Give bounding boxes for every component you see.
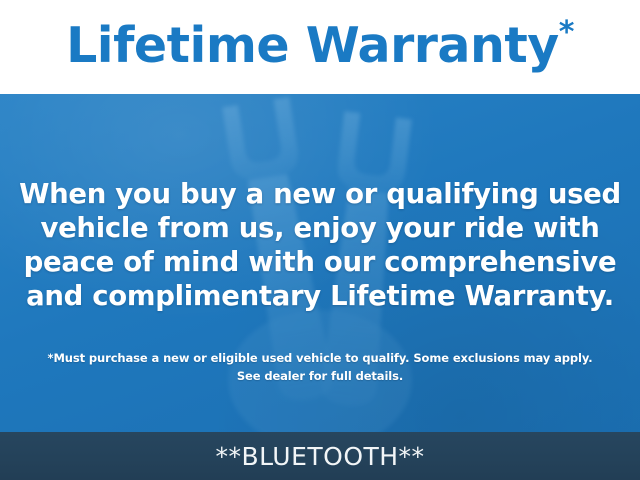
fine-print-line: *Must purchase a new or eligible used ve… xyxy=(0,349,640,367)
page-title-text: Lifetime Warranty xyxy=(66,17,559,74)
fine-print-disclaimer: *Must purchase a new or eligible used ve… xyxy=(0,349,640,385)
body-line: and complimentary Lifetime Warranty. xyxy=(0,279,640,313)
banner-header: Lifetime Warranty* xyxy=(0,0,640,94)
caption-bar: **BLUETOOTH** xyxy=(0,432,640,480)
footnote-asterisk: * xyxy=(559,15,574,50)
caption-text: **BLUETOOTH** xyxy=(215,442,424,471)
warranty-body-copy: When you buy a new or qualifying used ve… xyxy=(0,177,640,313)
body-line: When you buy a new or qualifying used xyxy=(0,177,640,211)
warranty-panel: When you buy a new or qualifying used ve… xyxy=(0,94,640,432)
page-title: Lifetime Warranty* xyxy=(66,21,574,70)
body-line: peace of mind with our comprehensive xyxy=(0,245,640,279)
lifetime-warranty-banner: Lifetime Warranty* xyxy=(0,0,640,480)
body-line: vehicle from us, enjoy your ride with xyxy=(0,211,640,245)
fine-print-line: See dealer for full details. xyxy=(0,367,640,385)
